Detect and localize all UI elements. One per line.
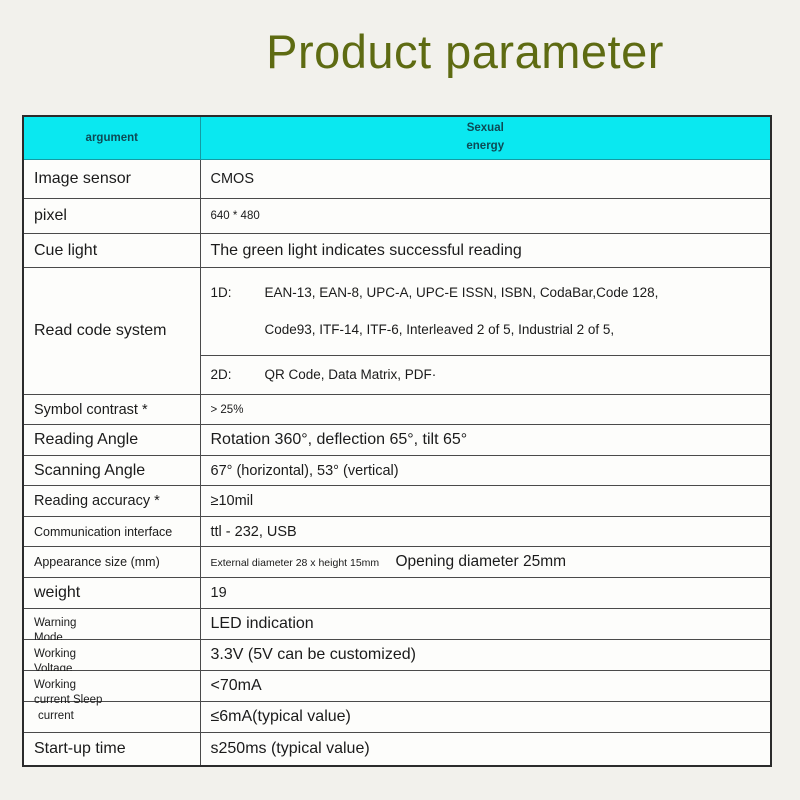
table-row-scanning-angle: Scanning Angle 67° (horizontal), 53° (ve…: [23, 456, 771, 486]
label-warning-mode: Warning Mode: [23, 609, 200, 640]
label-working-voltage: Working Voltage: [23, 640, 200, 671]
label-weight: weight: [23, 578, 200, 609]
table-row-warning-mode: Warning Mode LED indication: [23, 609, 771, 640]
code-1d-line-1: 1D: EAN-13, EAN-8, UPC-A, UPC-E ISSN, IS…: [211, 285, 761, 301]
header-performance-line1: Sexual: [201, 120, 771, 138]
label-cue-light: Cue light: [23, 234, 200, 268]
table-row-appearance-size: Appearance size (mm) External diameter 2…: [23, 547, 771, 578]
product-specification-table: argument Sexual energy Image sensor CMOS…: [22, 115, 772, 767]
table-row-communication-interface: Communication interface ttl - 232, USB: [23, 517, 771, 547]
code-1d-text-1: EAN-13, EAN-8, UPC-A, UPC-E ISSN, ISBN, …: [265, 285, 761, 301]
value-communication-interface: ttl - 232, USB: [200, 517, 771, 547]
value-working-voltage: 3.3V (5V can be customized): [200, 640, 771, 671]
product-parameter-page: Product parameter argument Sexual energy…: [0, 0, 800, 800]
label-warning-mode-line1: Warning: [34, 617, 76, 629]
header-cell-performance: Sexual energy: [200, 116, 771, 160]
code-2d-tag: 2D:: [211, 367, 265, 383]
label-working-voltage-line1: Working: [34, 648, 76, 660]
label-reading-angle: Reading Angle: [23, 425, 200, 456]
value-reading-accuracy: ≥10mil: [200, 486, 771, 517]
value-appearance-external: External diameter 28 x height 15mm: [211, 557, 396, 569]
table-row-pixel: pixel 640 * 480: [23, 199, 771, 234]
value-reading-angle: Rotation 360°, deflection 65°, tilt 65°: [200, 425, 771, 456]
label-working-current-line2: current Sleep: [34, 693, 102, 709]
table-row-working-voltage: Working Voltage 3.3V (5V can be customiz…: [23, 640, 771, 671]
label-appearance-size: Appearance size (mm): [23, 547, 200, 578]
value-scanning-angle: 67° (horizontal), 53° (vertical): [200, 456, 771, 486]
value-appearance-opening: Opening diameter 25mm: [396, 553, 567, 571]
code-1d-line-2: Code93, ITF-14, ITF-6, Interleaved 2 of …: [211, 322, 761, 338]
value-pixel: 640 * 480: [200, 199, 771, 234]
code-2d-text: QR Code, Data Matrix, PDF·: [265, 367, 761, 383]
table-row-working-current: Working current Sleep <70mA: [23, 671, 771, 702]
label-communication-interface: Communication interface: [23, 517, 200, 547]
value-image-sensor: CMOS: [200, 160, 771, 199]
table-row-image-sensor: Image sensor CMOS: [23, 160, 771, 199]
label-pixel: pixel: [23, 199, 200, 234]
table-row-sleep-current: current ≤6mA(typical value): [23, 702, 771, 733]
code-1d-text-2: Code93, ITF-14, ITF-6, Interleaved 2 of …: [265, 322, 761, 338]
value-warning-mode: LED indication: [200, 609, 771, 640]
label-reading-accuracy: Reading accuracy *: [23, 486, 200, 517]
value-sleep-current: ≤6mA(typical value): [200, 702, 771, 733]
table-row-weight: weight 19: [23, 578, 771, 609]
table-row-reading-accuracy: Reading accuracy * ≥10mil: [23, 486, 771, 517]
label-startup-time: Start-up time: [23, 733, 200, 766]
value-read-code-2d: 2D: QR Code, Data Matrix, PDF·: [200, 356, 771, 395]
table-row-startup-time: Start-up time s250ms (typical value): [23, 733, 771, 766]
table-row-reading-angle: Reading Angle Rotation 360°, deflection …: [23, 425, 771, 456]
value-read-code-1d: 1D: EAN-13, EAN-8, UPC-A, UPC-E ISSN, IS…: [200, 268, 771, 356]
label-image-sensor: Image sensor: [23, 160, 200, 199]
value-weight: 19: [200, 578, 771, 609]
code-2d-line: 2D: QR Code, Data Matrix, PDF·: [211, 367, 761, 383]
table-header-row: argument Sexual energy: [23, 116, 771, 160]
table-row-symbol-contrast: Symbol contrast * > 25%: [23, 395, 771, 425]
label-scanning-angle: Scanning Angle: [23, 456, 200, 486]
value-appearance-size: External diameter 28 x height 15mm Openi…: [200, 547, 771, 578]
value-startup-time: s250ms (typical value): [200, 733, 771, 766]
label-symbol-contrast: Symbol contrast *: [23, 395, 200, 425]
value-cue-light: The green light indicates successful rea…: [200, 234, 771, 268]
value-symbol-contrast: > 25%: [200, 395, 771, 425]
page-title: Product parameter: [0, 26, 800, 78]
label-working-current-sleep: Working current Sleep: [23, 671, 200, 702]
label-read-code-system: Read code system: [23, 268, 200, 395]
table-row-cue-light: Cue light The green light indicates succ…: [23, 234, 771, 268]
header-performance-line2: energy: [201, 138, 771, 156]
table-row-read-code-system-1d: Read code system 1D: EAN-13, EAN-8, UPC-…: [23, 268, 771, 356]
code-1d-tag: 1D:: [211, 285, 265, 301]
header-cell-argument: argument: [23, 116, 200, 160]
value-working-current: <70mA: [200, 671, 771, 702]
label-working-current-line1: Working: [34, 679, 76, 691]
